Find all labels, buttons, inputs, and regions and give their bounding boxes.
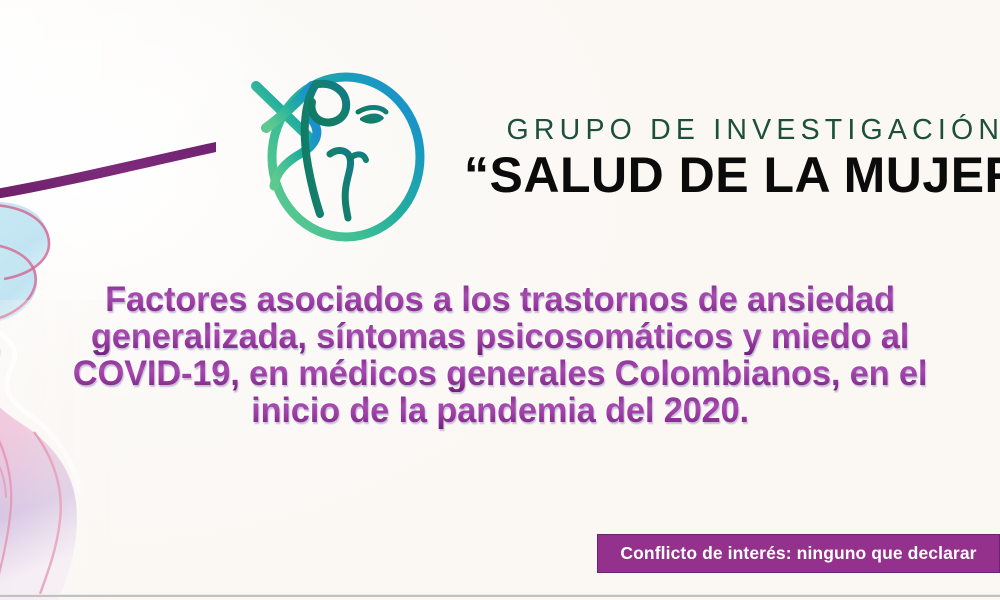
title-line-3: COVID-19, en médicos generales Colombian… bbox=[62, 355, 939, 392]
logo-line-salud-de-la-mujer: “SALUD DE LA MUJER” bbox=[464, 150, 1000, 201]
logo-lockup: GRUPO DE INVESTIGACIÓN “SALUD DE LA MUJE… bbox=[238, 62, 1000, 247]
title-line-4: inicio de la pandemia del 2020. bbox=[62, 392, 939, 429]
presentation-slide: GRUPO DE INVESTIGACIÓN “SALUD DE LA MUJE… bbox=[0, 0, 1000, 600]
title-line-1: Factores asociados a los trastornos de a… bbox=[62, 281, 939, 318]
logo-line-grupo-de-investigacion: GRUPO DE INVESTIGACIÓN bbox=[464, 116, 1000, 145]
conflict-of-interest-banner: Conflicto de interés: ninguno que declar… bbox=[597, 534, 1000, 573]
bottom-divider bbox=[0, 594, 1000, 597]
presentation-title: Factores asociados a los trastornos de a… bbox=[55, 281, 945, 429]
salud-de-la-mujer-logo-mark bbox=[238, 62, 438, 247]
purple-curved-swoosh bbox=[0, 142, 216, 200]
title-line-2: generalizada, síntomas psicosomáticos y … bbox=[62, 318, 939, 355]
logo-wordmark: GRUPO DE INVESTIGACIÓN “SALUD DE LA MUJE… bbox=[464, 116, 1000, 201]
conflict-of-interest-label: Conflicto de interés: ninguno que declar… bbox=[620, 543, 976, 564]
